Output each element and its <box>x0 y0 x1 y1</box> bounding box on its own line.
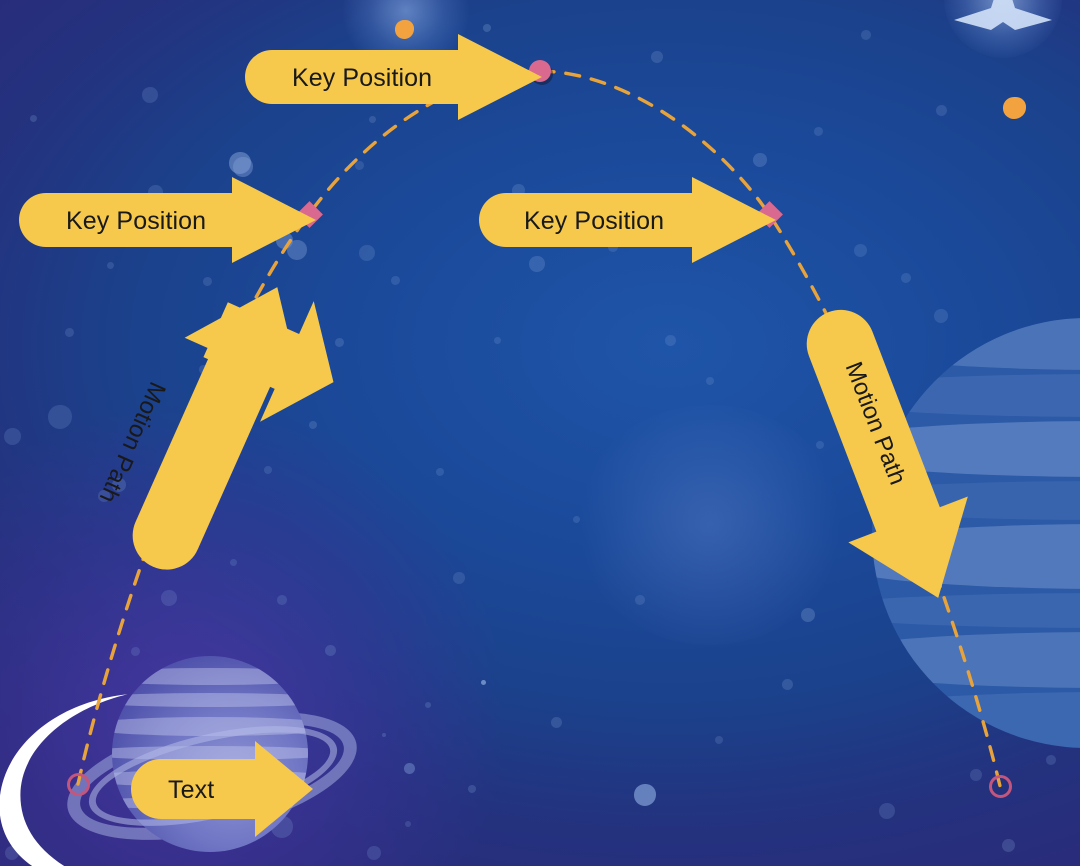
callout-text[interactable]: Text <box>133 741 313 837</box>
callout-motion-path-left[interactable]: Motion Path <box>121 271 301 601</box>
end-marker[interactable] <box>989 775 1012 798</box>
callout-label: Key Position <box>66 209 206 234</box>
callout-key-position-top[interactable]: Key Position <box>246 34 542 120</box>
callout-label: Key Position <box>524 209 664 234</box>
start-marker[interactable] <box>67 773 90 796</box>
callout-motion-path-right[interactable]: Motion Path <box>788 271 968 611</box>
space-motion-path-illustration: Key Position Key Position Key Position M… <box>0 0 1080 866</box>
callout-key-position-left[interactable]: Key Position <box>20 177 316 263</box>
callout-label: Key Position <box>292 66 432 91</box>
callout-key-position-right[interactable]: Key Position <box>480 177 776 263</box>
callout-label: Text <box>168 778 214 803</box>
